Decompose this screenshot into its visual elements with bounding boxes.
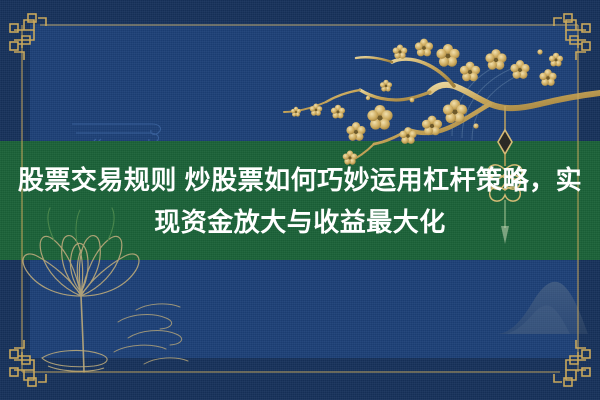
- title-line-2: 现资金放大与收益最大化: [154, 201, 446, 243]
- title-line-1: 股票交易规则 炒股票如何巧妙运用杠杆策略，实: [18, 159, 582, 201]
- decorative-banner: 股票交易规则 炒股票如何巧妙运用杠杆策略，实 现资金放大与收益最大化: [0, 0, 600, 400]
- banner-title: 股票交易规则 炒股票如何巧妙运用杠杆策略，实 现资金放大与收益最大化: [0, 141, 600, 260]
